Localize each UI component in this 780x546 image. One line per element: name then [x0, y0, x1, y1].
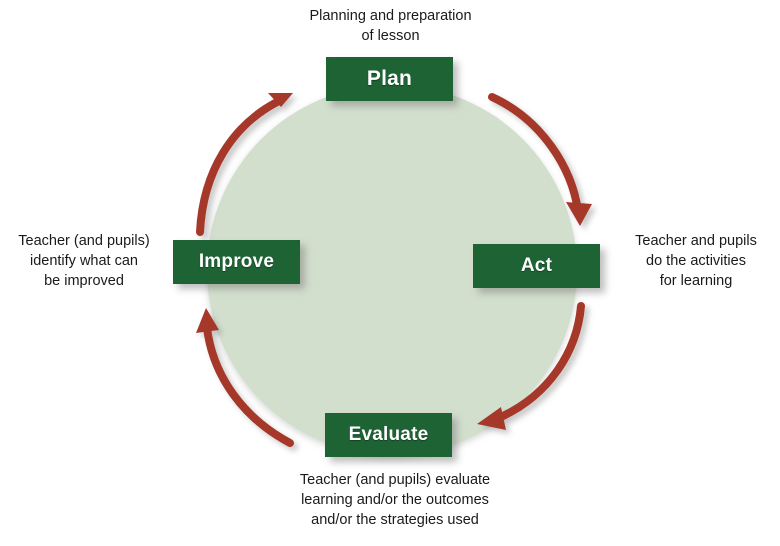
caption-evaluate: Teacher (and pupils) evaluate learning a…: [255, 470, 535, 530]
stage-label-improve: Improve: [199, 251, 274, 273]
caption-plan: Planning and preparation of lesson: [288, 6, 493, 46]
stage-box-evaluate[interactable]: Evaluate: [325, 413, 452, 457]
stage-label-plan: Plan: [367, 67, 412, 91]
stage-box-improve[interactable]: Improve: [173, 240, 300, 284]
stage-label-evaluate: Evaluate: [349, 424, 429, 446]
caption-act: Teacher and pupils do the activities for…: [616, 231, 776, 291]
stage-label-act: Act: [521, 255, 552, 277]
stage-box-plan[interactable]: Plan: [326, 57, 453, 101]
caption-improve: Teacher (and pupils) identify what can b…: [4, 231, 164, 291]
diagram-canvas: Plan Act Evaluate Improve Planning and p…: [0, 0, 780, 546]
stage-box-act[interactable]: Act: [473, 244, 600, 288]
